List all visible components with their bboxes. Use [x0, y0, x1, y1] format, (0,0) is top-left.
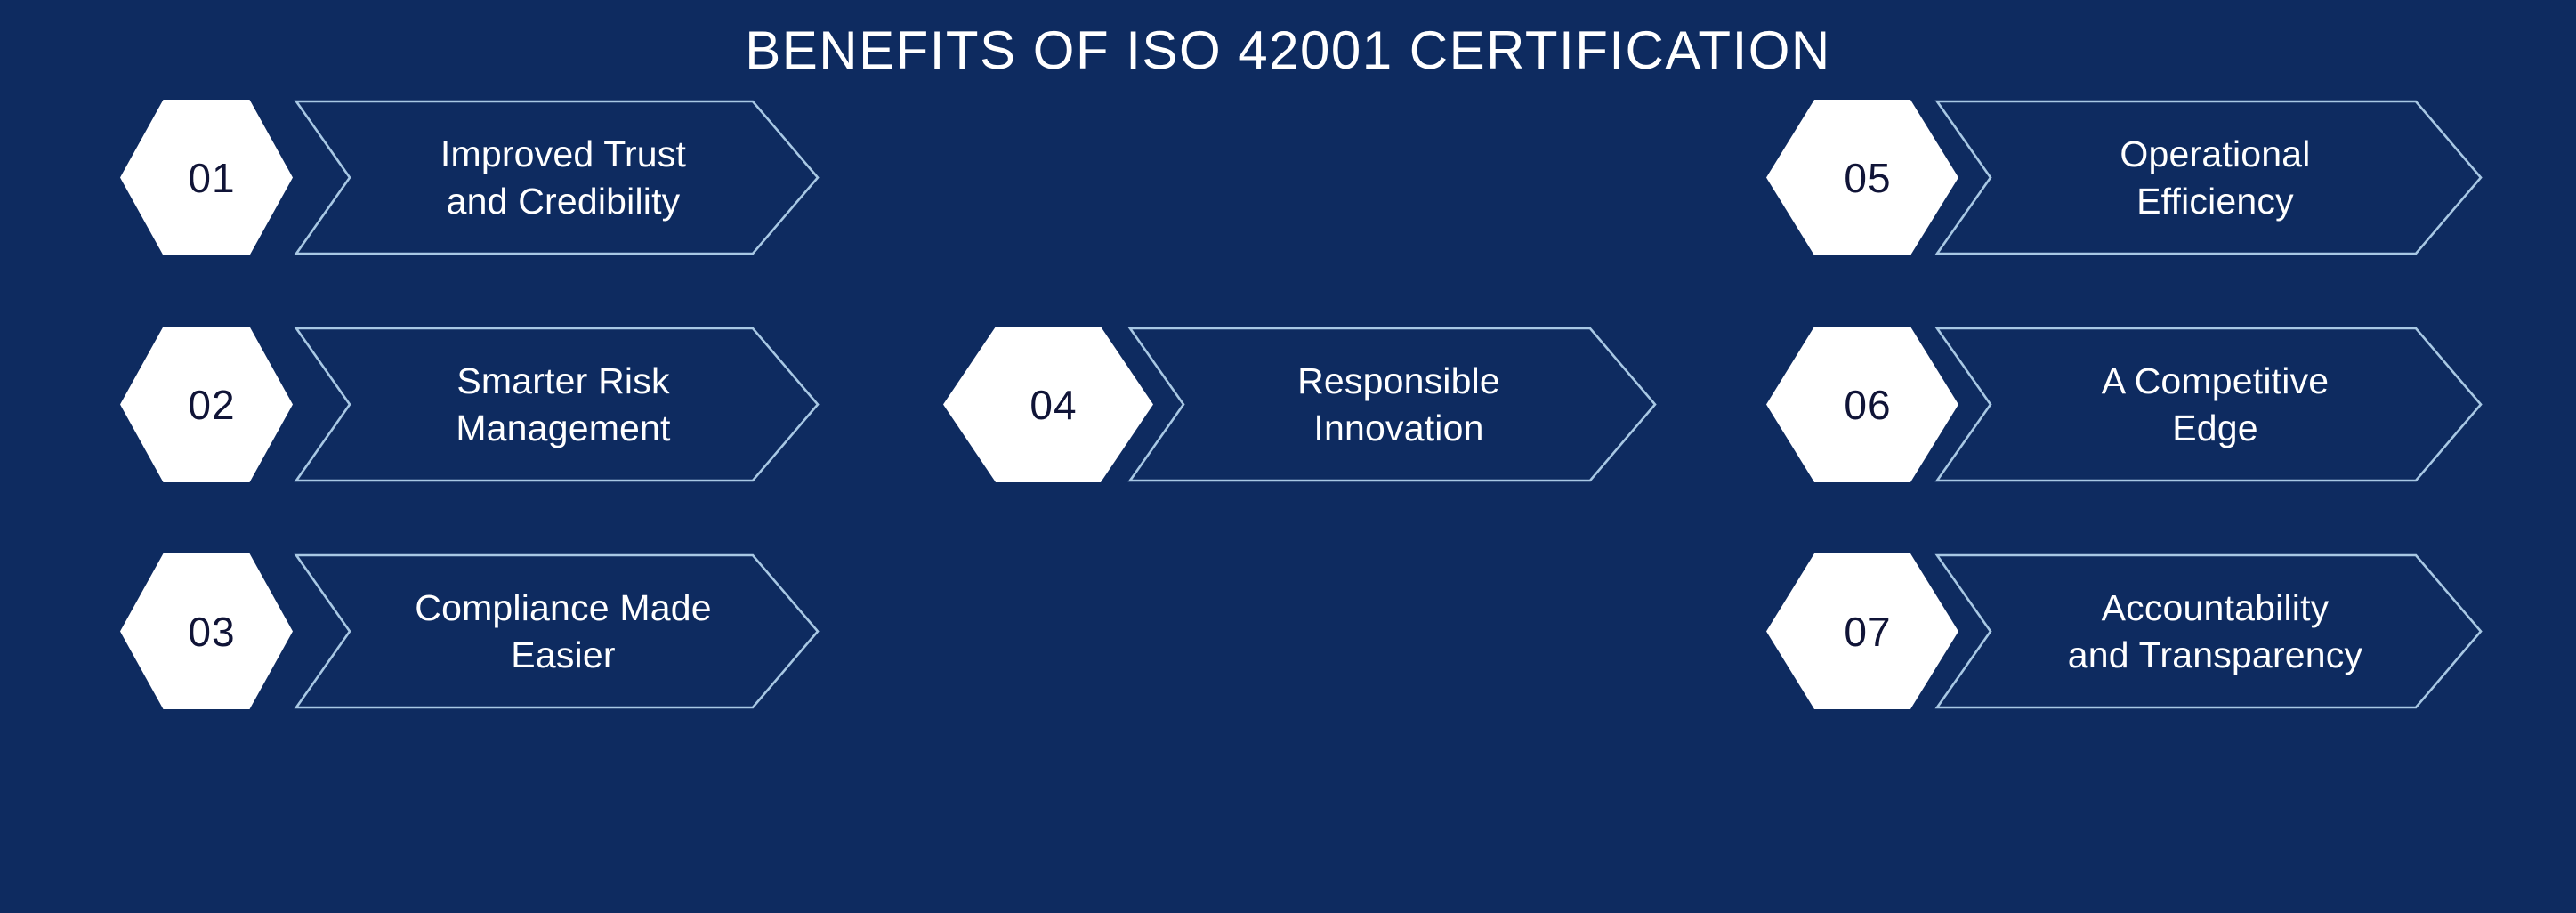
benefit-item-07[interactable]: Accountability and Transparency 07: [1766, 553, 2483, 709]
benefit-number-07: 07: [1844, 611, 1891, 652]
benefit-number-06: 06: [1844, 384, 1891, 425]
benefit-label-06: A Competitive Edge: [1935, 327, 2483, 482]
benefit-badge-01: 01: [120, 100, 293, 255]
benefit-label-01: Improved Trust and Credibility: [295, 100, 820, 255]
infographic-canvas: BENEFITS OF ISO 42001 CERTIFICATION Impr…: [0, 0, 2576, 913]
benefit-banner-02: Smarter Risk Management: [295, 327, 820, 482]
benefit-banner-07: Accountability and Transparency: [1935, 553, 2483, 709]
benefit-label-03: Compliance Made Easier: [295, 553, 820, 709]
benefit-number-03: 03: [188, 611, 235, 652]
benefit-number-02: 02: [188, 384, 235, 425]
benefit-label-04: Responsible Innovation: [1128, 327, 1657, 482]
benefit-badge-07: 07: [1766, 553, 1958, 709]
benefit-badge-02: 02: [120, 327, 293, 482]
page-title: BENEFITS OF ISO 42001 CERTIFICATION: [0, 20, 2576, 81]
benefit-item-05[interactable]: Operational Efficiency 05: [1766, 100, 2483, 255]
benefit-item-04[interactable]: Responsible Innovation 04: [943, 327, 1657, 482]
benefit-item-03[interactable]: Compliance Made Easier 03: [120, 553, 820, 709]
benefit-banner-01: Improved Trust and Credibility: [295, 100, 820, 255]
benefit-banner-04: Responsible Innovation: [1128, 327, 1657, 482]
benefit-badge-05: 05: [1766, 100, 1958, 255]
benefit-item-01[interactable]: Improved Trust and Credibility 01: [120, 100, 820, 255]
benefit-label-07: Accountability and Transparency: [1935, 553, 2483, 709]
benefit-banner-06: A Competitive Edge: [1935, 327, 2483, 482]
benefit-item-06[interactable]: A Competitive Edge 06: [1766, 327, 2483, 482]
benefit-number-01: 01: [188, 158, 235, 198]
benefit-label-02: Smarter Risk Management: [295, 327, 820, 482]
benefit-banner-03: Compliance Made Easier: [295, 553, 820, 709]
benefit-badge-03: 03: [120, 553, 293, 709]
benefit-number-04: 04: [1030, 384, 1077, 425]
benefit-badge-04: 04: [943, 327, 1153, 482]
benefit-number-05: 05: [1844, 158, 1891, 198]
benefit-item-02[interactable]: Smarter Risk Management 02: [120, 327, 820, 482]
benefit-badge-06: 06: [1766, 327, 1958, 482]
benefit-label-05: Operational Efficiency: [1935, 100, 2483, 255]
benefit-banner-05: Operational Efficiency: [1935, 100, 2483, 255]
